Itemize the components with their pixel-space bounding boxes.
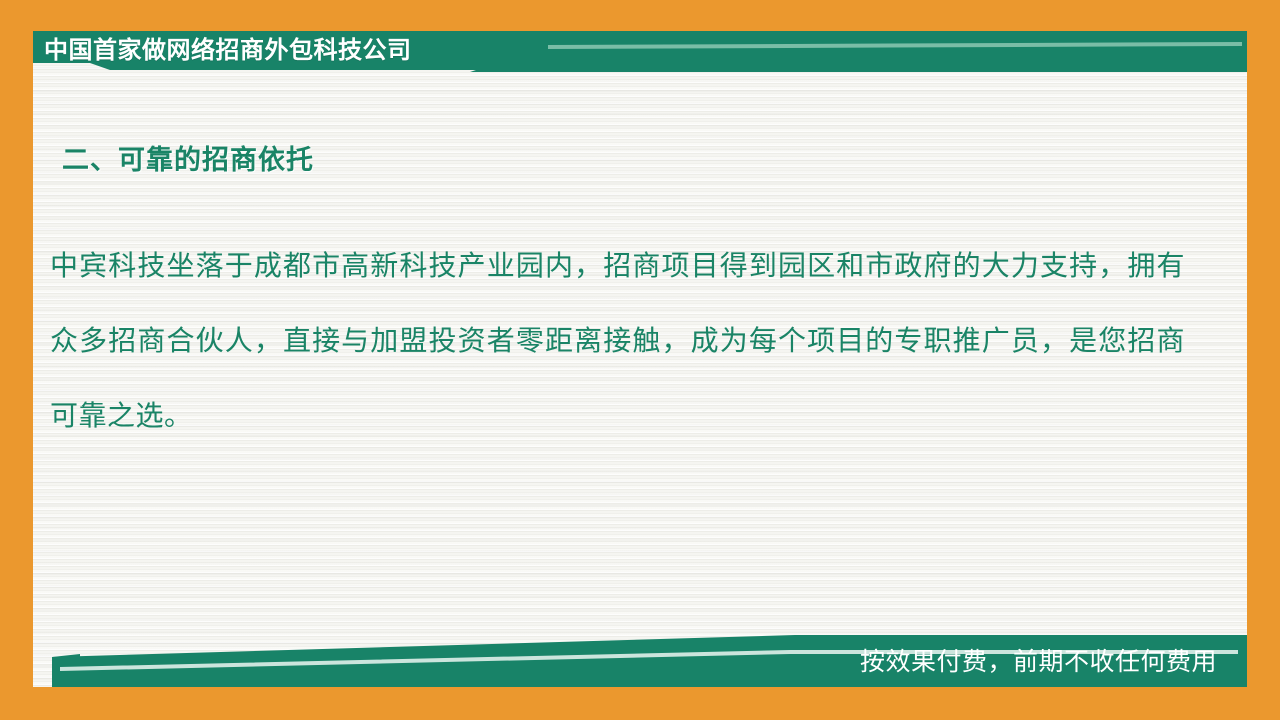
header-title: 中国首家做网络招商外包科技公司 [44,34,412,68]
body-paragraph: 中宾科技坐落于成都市高新科技产业园内，招商项目得到园区和市政府的大力支持，拥有众… [50,228,1185,453]
body-paragraph-container: 中宾科技坐落于成都市高新科技产业园内，招商项目得到园区和市政府的大力支持，拥有众… [50,228,1185,453]
slide-canvas: 中国首家做网络招商外包科技公司 二、可靠的招商依托 中宾科技坐落于成都市高新科技… [0,0,1280,720]
footer-tagline: 按效果付费，前期不收任何费用 [860,645,1217,679]
section-heading: 二、可靠的招商依托 [62,138,314,177]
